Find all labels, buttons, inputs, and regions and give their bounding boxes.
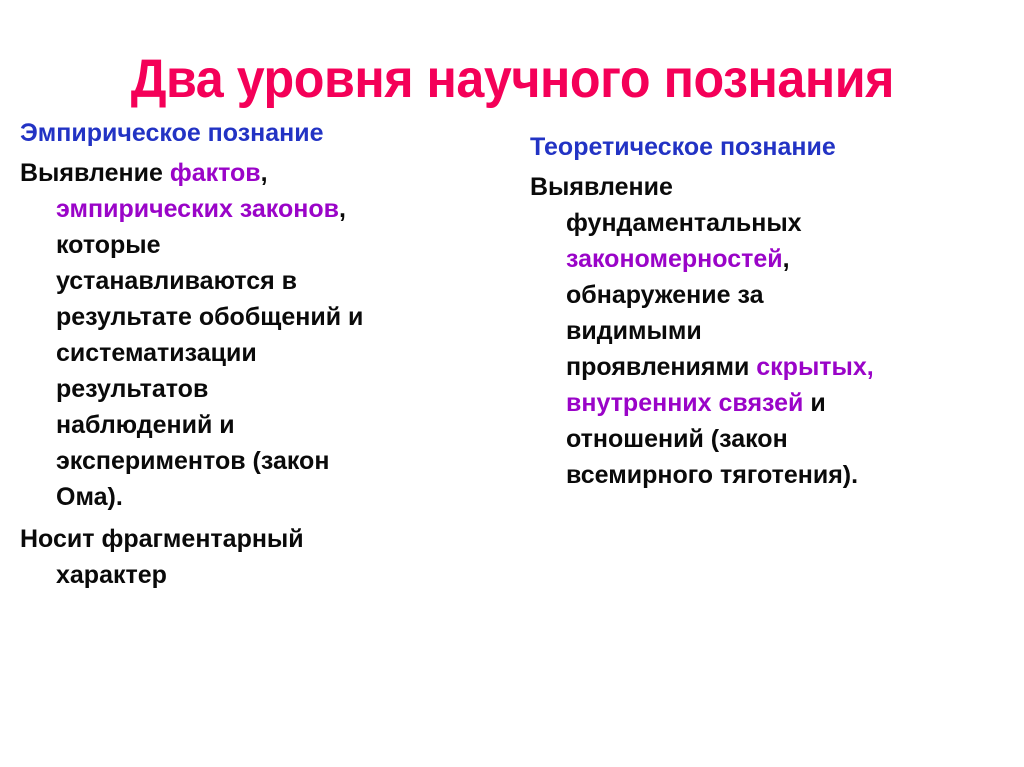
left-line-7: результатов	[56, 371, 512, 407]
left-line-3: которые	[56, 227, 512, 263]
left-p2-line-2: характер	[56, 557, 512, 593]
left-line-8: наблюдений и	[56, 407, 512, 443]
left-line-1: Выявление фактов,	[56, 155, 512, 191]
text-run-highlight-zakonomernostey: закономерностей	[566, 245, 783, 273]
right-line-2: фундаментальных	[566, 205, 1010, 241]
text-run-highlight-fakty: фактов	[170, 159, 261, 187]
slide-root: Два уровня научного познания Эмпирическо…	[0, 0, 1024, 767]
left-line-10: Ома).	[56, 479, 512, 515]
left-line-4: устанавливаются в	[56, 263, 512, 299]
column-heading-theoretical: Теоретическое познание	[530, 132, 1010, 162]
left-line-5: результате обобщений и	[56, 299, 512, 335]
text-run-plain-2: проявлениями	[566, 353, 756, 381]
left-line-2: эмпирических законов,	[56, 191, 512, 227]
text-run-comma-3: ,	[783, 245, 790, 273]
text-run-plain-3: и	[803, 389, 825, 417]
right-line-5: видимыми	[566, 313, 1010, 349]
right-line-3: закономерностей,	[566, 241, 1010, 277]
left-line-6: систематизации	[56, 335, 512, 371]
text-run-highlight-vnutrennih: внутренних связей	[566, 389, 803, 417]
column-theoretical: Теоретическое познание Выявление фундаме…	[530, 118, 1010, 499]
left-line-9: экспериментов (закон	[56, 443, 512, 479]
text-run-comma-2: ,	[339, 195, 346, 223]
right-line-4: обнаружение за	[566, 277, 1010, 313]
right-line-8: отношений (закон	[566, 421, 1010, 457]
right-line-6: проявлениями скрытых,	[566, 349, 1010, 385]
column-empirical: Эмпирическое познание Выявление фактов, …	[20, 118, 512, 599]
right-line-7: внутренних связей и	[566, 385, 1010, 421]
left-paragraph-2: Носит фрагментарный характер	[20, 521, 512, 593]
text-run-comma: ,	[261, 159, 268, 187]
right-line-9: всемирного тяготения).	[566, 457, 1010, 493]
content-columns: Эмпирическое познание Выявление фактов, …	[0, 118, 1024, 658]
text-run-plain: Выявление	[20, 159, 170, 187]
right-line-1: Выявление	[566, 169, 1010, 205]
right-paragraph-1: Выявление фундаментальных закономерносте…	[530, 169, 1010, 493]
text-run-highlight-skrytyh: скрытых,	[756, 353, 873, 381]
column-heading-empirical: Эмпирическое познание	[20, 118, 512, 148]
text-run-highlight-zakony: эмпирических законов	[56, 195, 339, 223]
left-p2-line-1: Носит фрагментарный	[56, 521, 512, 557]
left-paragraph-1: Выявление фактов, эмпирических законов, …	[20, 155, 512, 515]
page-title: Два уровня научного познания	[130, 50, 893, 108]
